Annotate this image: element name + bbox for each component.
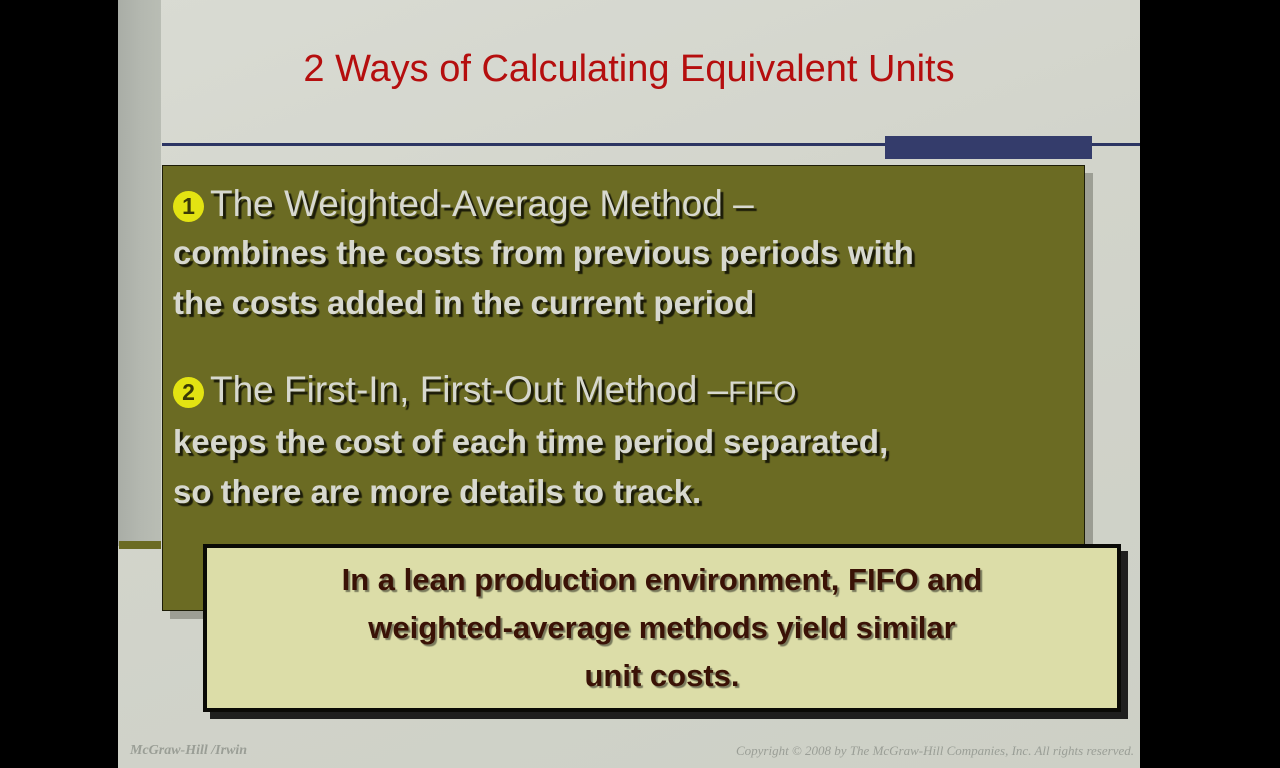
- bullet-1-body-line-1: combines the costs from previous periods…: [173, 228, 1073, 278]
- footer-copyright: Copyright © 2008 by The McGraw-Hill Comp…: [736, 743, 1134, 759]
- callout-line-2: weighted-average methods yield similar: [207, 604, 1117, 652]
- bullet-1-lead-text: The Weighted-Average Method –: [210, 183, 754, 224]
- bullet-2-lead-line: 2The First-In, First-Out Method –FIFO: [173, 366, 1073, 417]
- title-accent-block: [885, 136, 1092, 159]
- slide-title: 2 Ways of Calculating Equivalent Units: [118, 48, 1140, 91]
- presentation-slide: 2 Ways of Calculating Equivalent Units 1…: [118, 0, 1140, 768]
- slide-stage: 2 Ways of Calculating Equivalent Units 1…: [0, 0, 1280, 768]
- bullet-2-body-line-2: so there are more details to track.: [173, 467, 1073, 517]
- bullet-2-body-line-1: keeps the cost of each time period separ…: [173, 417, 1073, 467]
- footer-publisher: McGraw-Hill /Irwin: [130, 743, 247, 759]
- bullet-item-2: 2The First-In, First-Out Method –FIFO ke…: [173, 366, 1073, 517]
- callout-line-3: unit costs.: [207, 652, 1117, 700]
- bullet-1-lead-line: 1The Weighted-Average Method –: [173, 180, 1073, 228]
- summary-callout-box: In a lean production environment, FIFO a…: [203, 544, 1121, 712]
- callout-line-1: In a lean production environment, FIFO a…: [207, 556, 1117, 604]
- left-band-olive-stripe: [119, 541, 161, 549]
- bullet-item-1: 1The Weighted-Average Method – combines …: [173, 180, 1073, 328]
- callout-text: In a lean production environment, FIFO a…: [207, 556, 1117, 700]
- bullet-2-lead-text: The First-In, First-Out Method –: [210, 369, 728, 410]
- bullet-2-number-icon: 2: [173, 377, 204, 408]
- bullet-2-lead-suffix: FIFO: [728, 376, 796, 409]
- bullet-1-body-line-2: the costs added in the current period: [173, 278, 1073, 328]
- bullet-1-number-icon: 1: [173, 191, 204, 222]
